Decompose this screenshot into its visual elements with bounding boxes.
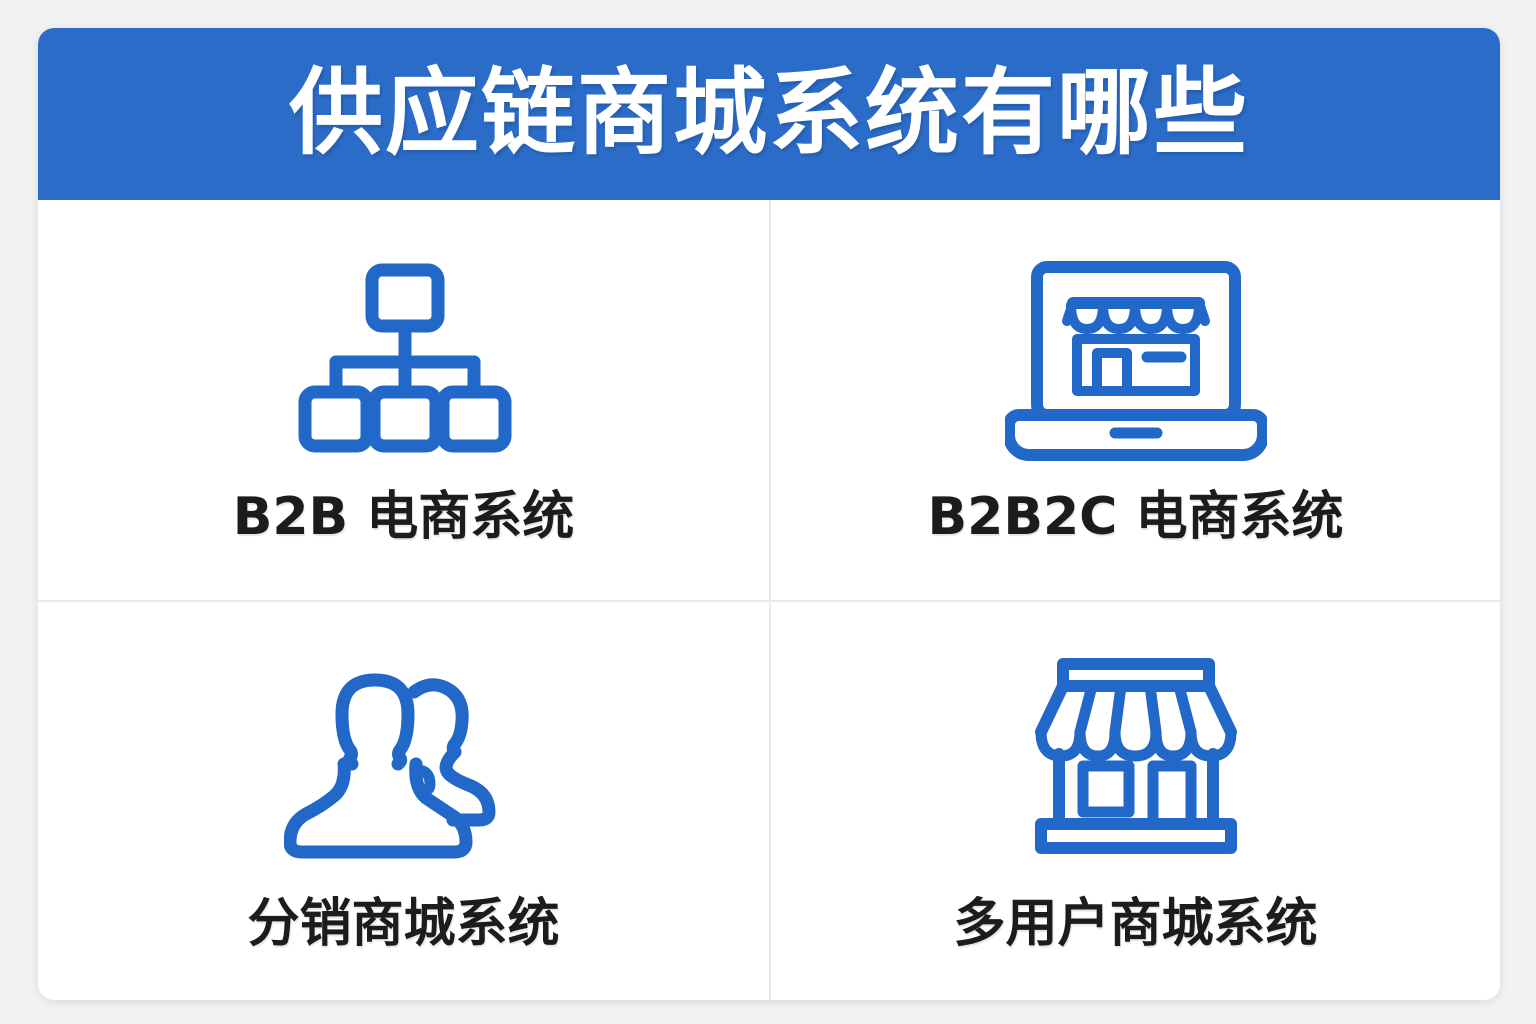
- card-distribution[interactable]: 分销商城系统: [38, 600, 769, 1000]
- page-title: 供应链商城系统有哪些: [289, 67, 1249, 161]
- card-label: 分销商城系统: [247, 898, 559, 950]
- infographic-stage: 供应链商城系统有哪些 B2B 电商系统: [0, 0, 1536, 1024]
- laptop-storefront-icon: [1005, 247, 1267, 477]
- infographic-card: 供应链商城系统有哪些 B2B 电商系统: [38, 28, 1500, 1000]
- card-label: B2B 电商系统: [233, 491, 575, 543]
- card-label: B2B2C 电商系统: [928, 491, 1344, 543]
- org-chart-icon: [288, 247, 520, 477]
- storefront-icon: [1025, 642, 1247, 872]
- card-label: 多用户商城系统: [953, 898, 1317, 950]
- card-b2b2c[interactable]: B2B2C 电商系统: [769, 200, 1500, 600]
- header-banner: 供应链商城系统有哪些: [38, 28, 1500, 200]
- users-group-icon: [284, 642, 524, 872]
- card-grid: B2B 电商系统: [38, 200, 1500, 1000]
- card-b2b[interactable]: B2B 电商系统: [38, 200, 769, 600]
- card-multi-user[interactable]: 多用户商城系统: [769, 600, 1500, 1000]
